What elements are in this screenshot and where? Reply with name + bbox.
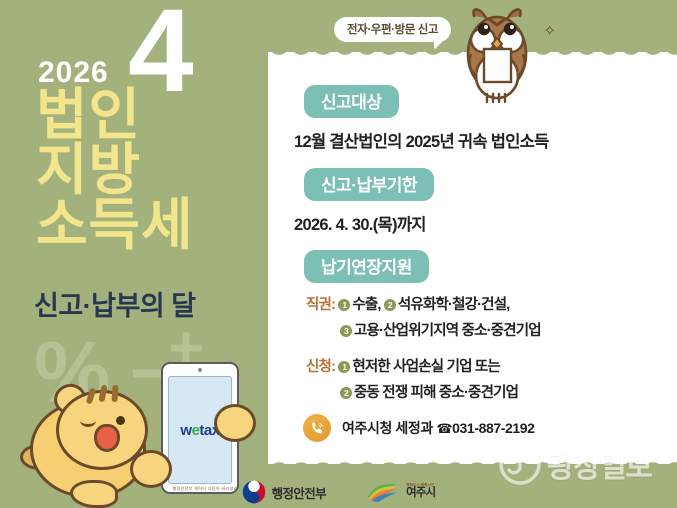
extension-application-item-2: 중동 전쟁 피해 중소·중견기업 — [354, 385, 518, 401]
wetax-prefix: w — [180, 422, 191, 439]
sparkle-icon: ✧ — [543, 24, 556, 40]
title-line-2: 지방 — [36, 143, 266, 198]
section-content-report-target: 12월 결산법인의 2025년 귀속 법인소득 — [294, 128, 549, 152]
logo-yeoju: 행복도시 행복시민 여주시 — [366, 481, 435, 503]
page-title: 법인 지방 소득세 — [36, 88, 266, 253]
section-badge-report-target: 신고대상 — [304, 85, 399, 118]
section-badge-deadline: 신고·납부기한 — [304, 168, 434, 201]
badge-label: 신고대상 — [304, 85, 399, 118]
extension-authority-row-1: 직권: 1수출, 2석유화학·철강·건설, — [306, 293, 510, 314]
extension-application-row-1: 신청: 1현저한 사업손실 기업 또는 — [306, 355, 500, 376]
title-line-1: 법인 — [36, 88, 266, 143]
tablet-camera-icon — [198, 368, 202, 372]
extension-application-row-2: 2중동 전쟁 피해 중소·중견기업 — [340, 381, 518, 402]
footer-logos: 행정안전부 행복도시 행복시민 여주시 — [0, 476, 677, 508]
cat-mouth-icon — [94, 424, 120, 452]
cat-eye-icon — [116, 416, 125, 425]
section-badge-extension: 납기연장지원 — [304, 250, 429, 283]
contact-office: 여주시청 세정과 — [342, 420, 433, 436]
logo-yeoju-label: 행복도시 행복시민 여주시 — [406, 484, 435, 499]
section-content-deadline: 2026. 4. 30.(목)까지 — [294, 211, 426, 235]
contact-phone: 031-887-2192 — [452, 420, 534, 436]
cat-stripe-icon — [111, 385, 118, 402]
phone-icon — [303, 414, 331, 442]
extension-authority-item-2: 석유화학·철강·건설, — [398, 297, 510, 313]
extension-authority-row-2: 3고용·산업위기지역 중소·중견기업 — [340, 319, 541, 340]
bullet-2-icon: 2 — [340, 387, 352, 399]
extension-application-label: 신청: — [306, 359, 335, 375]
logo-yeoju-name: 여주시 — [406, 488, 435, 500]
title-line-3: 소득세 — [36, 198, 266, 253]
yeoju-swoosh-icon — [366, 481, 400, 503]
contact-row: 여주시청 세정과 ☎031-887-2192 — [303, 414, 535, 442]
bullet-3-icon: 3 — [340, 325, 352, 337]
bullet-1-icon: 1 — [338, 299, 350, 311]
speech-bubble: 전자·우편·방문 신고 — [334, 17, 451, 42]
owl-mascot: ✧ — [447, 2, 559, 106]
badge-label: 납기연장지원 — [304, 250, 429, 283]
badge-label: 신고·납부기한 — [304, 168, 434, 201]
contact-text: 여주시청 세정과 ☎031-887-2192 — [342, 418, 535, 438]
logo-ministry-label: 행정안전부 — [272, 483, 327, 502]
logo-ministry: 행정안전부 — [242, 480, 327, 504]
poster-canvas: % − + 4 2026 법인 지방 소득세 신고·납부의 달 wetax — [0, 0, 677, 508]
page-subtitle: 신고·납부의 달 — [34, 284, 196, 323]
cat-eye-closed-icon — [80, 414, 96, 427]
bullet-2-icon: 2 — [384, 299, 396, 311]
extension-authority-item-1: 수출, — [352, 297, 380, 313]
extension-authority-item-3: 고용·산업위기지역 중소·중견기업 — [354, 323, 541, 339]
cat-paw-icon — [214, 404, 256, 442]
extension-authority-label: 직권: — [306, 297, 335, 313]
extension-application-item-1: 현저한 사업손실 기업 또는 — [352, 359, 500, 375]
bullet-1-icon: 1 — [338, 361, 350, 373]
taegeuk-icon — [242, 480, 266, 504]
telephone-glyph-icon: ☎ — [436, 421, 452, 436]
